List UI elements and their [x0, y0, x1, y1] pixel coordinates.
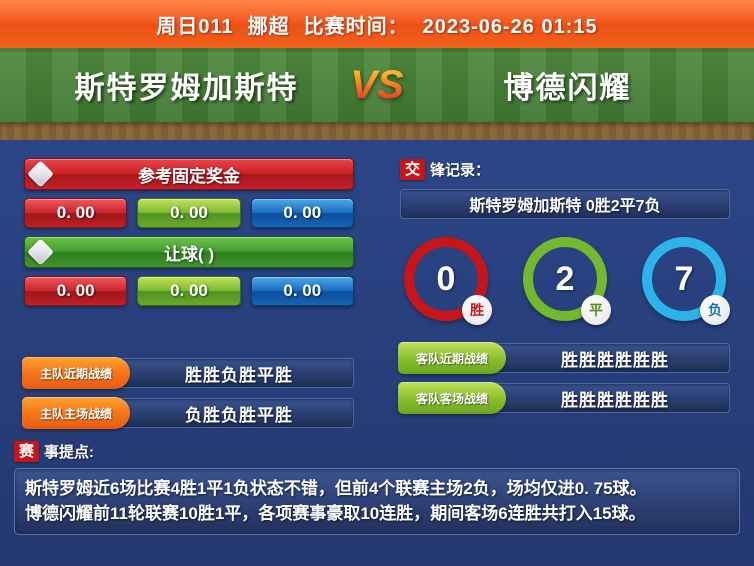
away-guest-form-row: 客队客场战绩 胜胜胜胜胜胜	[400, 383, 730, 413]
fixed-odd-home[interactable]: 0. 00	[24, 198, 127, 228]
h2h-rings: 0 胜 2 平 7 负	[404, 237, 726, 321]
home-host-form-label: 主队主场战绩	[22, 397, 130, 429]
home-team-name: 斯特罗姆加斯特	[38, 63, 335, 107]
home-recent-form-label: 主队近期战绩	[22, 357, 130, 389]
header-text: 周日011挪超比赛时间：2023-06-26 01:15	[156, 10, 597, 39]
home-recent-form-row: 主队近期战绩 胜胜负胜平胜	[24, 358, 354, 388]
fixed-odds-row: 0. 00 0. 00 0. 00	[24, 198, 354, 228]
home-host-form-value: 负胜负胜平胜	[125, 401, 353, 426]
fixed-bonus-header: 参考固定奖金	[24, 158, 354, 190]
handicap-odd-away[interactable]: 0. 00	[251, 276, 354, 306]
fixed-bonus-title: 参考固定奖金	[138, 162, 240, 187]
fixed-odd-away[interactable]: 0. 00	[251, 198, 354, 228]
tips-box: 斯特罗姆近6场比赛4胜1平1负状态不错，但前4个联赛主场2负，场均仅进0. 75…	[14, 468, 740, 535]
match-preview-page: 周日011挪超比赛时间：2023-06-26 01:15 斯特罗姆加斯特 VS …	[0, 0, 754, 566]
header-time-value: 2023-06-26 01:15	[423, 16, 598, 38]
handicap-header: 让球( )	[24, 236, 354, 268]
h2h-panel: 交 锋记录： 斯特罗姆加斯特 0胜2平7负 0 胜 2 平 7 负	[400, 158, 730, 413]
content-area: 参考固定奖金 0. 00 0. 00 0. 00 让球( ) 0. 00 0. …	[0, 140, 754, 566]
odds-panel: 参考固定奖金 0. 00 0. 00 0. 00 让球( ) 0. 00 0. …	[24, 158, 354, 428]
tips-line-1: 斯特罗姆近6场比赛4胜1平1负状态不错，但前4个联赛主场2负，场均仅进0. 75…	[25, 476, 729, 501]
home-recent-form-value: 胜胜负胜平胜	[125, 361, 353, 386]
fixed-odd-draw[interactable]: 0. 00	[137, 198, 240, 228]
handicap-title: 让球( )	[164, 240, 214, 265]
h2h-summary: 斯特罗姆加斯特 0胜2平7负	[400, 189, 730, 219]
away-guest-form-value: 胜胜胜胜胜胜	[501, 386, 729, 411]
diamond-icon	[27, 239, 54, 266]
h2h-ring-win-badge: 胜	[462, 295, 492, 325]
handicap-odd-draw[interactable]: 0. 00	[137, 276, 240, 306]
tips-badge-icon: 赛	[14, 441, 39, 462]
h2h-ring-win: 0 胜	[404, 237, 488, 321]
home-host-form-row: 主队主场战绩 负胜负胜平胜	[24, 398, 354, 428]
h2h-ring-loss-badge: 负	[700, 295, 730, 325]
h2h-ring-draw: 2 平	[523, 237, 607, 321]
header-round: 周日011	[156, 16, 233, 38]
tips-title: 赛 事提点:	[14, 440, 740, 462]
h2h-title-label: 锋记录：	[430, 159, 490, 180]
team-banner: 斯特罗姆加斯特 VS 博德闪耀	[0, 48, 754, 140]
handicap-odd-home[interactable]: 0. 00	[24, 276, 127, 306]
h2h-ring-draw-badge: 平	[581, 295, 611, 325]
tips-title-label: 事提点:	[44, 441, 94, 462]
match-tips: 赛 事提点: 斯特罗姆近6场比赛4胜1平1负状态不错，但前4个联赛主场2负，场均…	[14, 440, 740, 535]
tips-line-2: 博德闪耀前11轮联赛10胜1平，各项赛事豪取10连胜，期间客场6连胜共打入15球…	[25, 501, 729, 526]
away-recent-form-row: 客队近期战绩 胜胜胜胜胜胜	[400, 343, 730, 373]
handicap-odds-row: 0. 00 0. 00 0. 00	[24, 276, 354, 306]
vs-icon: VS	[335, 63, 419, 108]
diamond-icon	[27, 161, 54, 188]
away-guest-form-label: 客队客场战绩	[398, 382, 506, 414]
header-bar: 周日011挪超比赛时间：2023-06-26 01:15	[0, 0, 754, 48]
header-time-label: 比赛时间：	[304, 16, 409, 38]
away-recent-form-value: 胜胜胜胜胜胜	[501, 346, 729, 371]
away-recent-form-label: 客队近期战绩	[398, 342, 506, 374]
h2h-title: 交 锋记录：	[400, 158, 730, 180]
away-team-name: 博德闪耀	[419, 63, 716, 107]
h2h-ring-loss: 7 负	[642, 237, 726, 321]
header-league: 挪超	[248, 16, 290, 38]
h2h-badge-icon: 交	[400, 159, 425, 180]
